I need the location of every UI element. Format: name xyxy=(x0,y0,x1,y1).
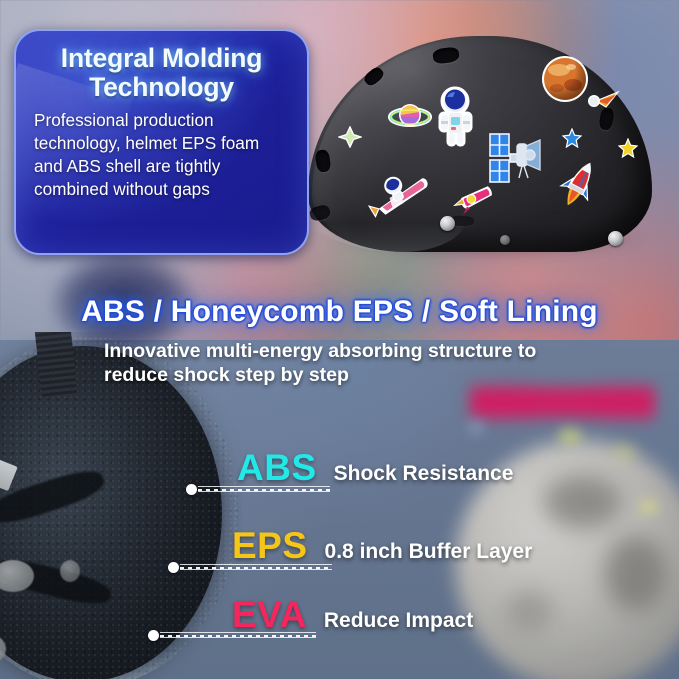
callout-desc-abs: Shock Resistance xyxy=(334,462,514,486)
pink-spaceship-sticker xyxy=(452,183,496,217)
leader-dot-eva xyxy=(148,630,159,641)
helmet-image xyxy=(300,28,660,263)
comet-sticker xyxy=(586,90,620,110)
product-infographic: Integral Molding Technology Professional… xyxy=(0,0,679,679)
callout-code-eva: EVA xyxy=(232,594,307,636)
blue-star-sticker xyxy=(562,128,582,148)
section-headline: ABS / Honeycomb EPS / Soft Lining xyxy=(0,295,679,329)
background-blue-dot xyxy=(468,420,484,434)
callout-desc-eps: 0.8 inch Buffer Layer xyxy=(325,540,533,564)
integral-molding-card: Integral Molding Technology Professional… xyxy=(14,29,309,255)
section-subheadline: Innovative multi-energy absorbing struct… xyxy=(104,340,596,388)
background-yellow-dot-3 xyxy=(612,443,638,461)
helmet-rivet xyxy=(440,216,455,231)
satellite-sticker xyxy=(488,128,546,186)
callout-abs: ABS Shock Resistance xyxy=(237,447,513,489)
inset-chin-strap xyxy=(34,332,77,398)
helmet-rivet xyxy=(608,231,623,246)
callout-desc-eva: Reduce Impact xyxy=(324,609,473,633)
callout-eps: EPS 0.8 inch Buffer Layer xyxy=(232,525,532,567)
background-yellow-dot-2 xyxy=(640,500,658,514)
helmet-rivet xyxy=(500,235,510,245)
yellow-star-sticker xyxy=(618,138,638,158)
callout-code-eps: EPS xyxy=(232,525,308,567)
leader-dot-abs xyxy=(186,484,197,495)
green-star-sticker xyxy=(338,126,362,148)
background-yellow-dot-1 xyxy=(558,428,582,444)
callout-code-abs: ABS xyxy=(237,447,317,489)
card-title: Integral Molding Technology xyxy=(30,44,293,102)
astronaut-on-rocket-sticker xyxy=(366,164,432,220)
inset-comfort-pad xyxy=(60,560,80,582)
card-body-text: Professional production technology, helm… xyxy=(34,109,291,201)
red-rocket-sticker xyxy=(558,158,600,210)
saturn-planet-sticker xyxy=(388,100,432,134)
astronaut-sticker xyxy=(435,86,475,148)
mars-planet-sticker xyxy=(540,54,590,104)
callout-eva: EVA Reduce Impact xyxy=(232,594,473,636)
leader-dot-eps xyxy=(168,562,179,573)
